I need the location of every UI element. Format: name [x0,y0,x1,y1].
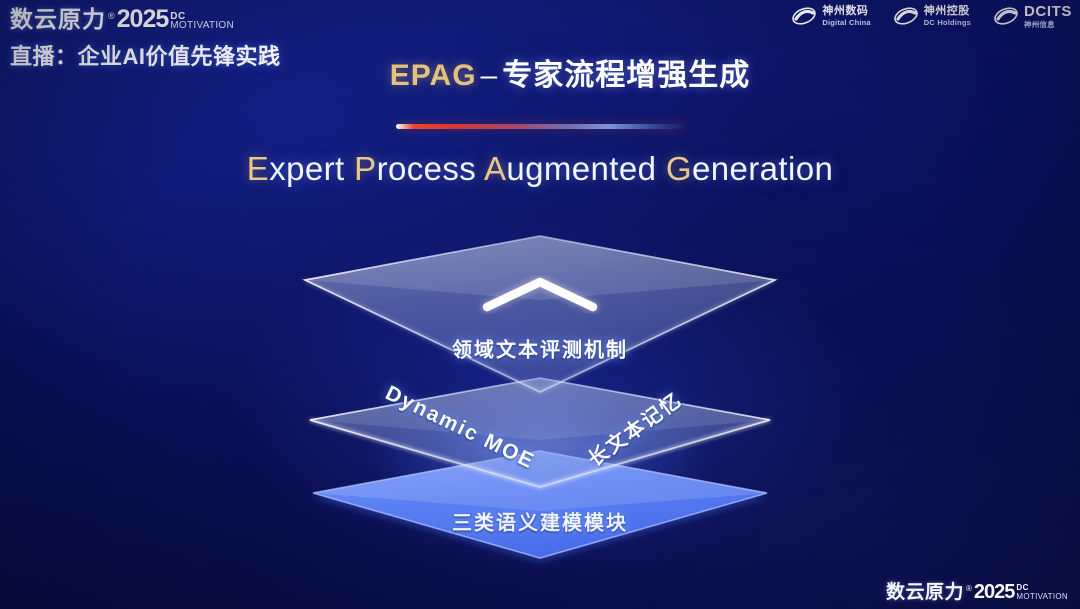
swirl-logo-icon [893,5,919,27]
partner-label: DCITS 神州信息 [1024,4,1072,29]
partner-logo-dc-holdings: 神州控股 DC Holdings [893,5,971,27]
partner-name-cn: DCITS [1024,4,1072,19]
partner-name-en: DC Holdings [924,19,971,27]
event-logo: 数云原力 ® 2025 DC MOTIVATION [6,2,326,32]
subtitle-rest-generation: eneration [692,150,833,187]
diagram-layer-top [305,236,775,392]
partner-name-cn: 神州数码 [822,6,870,17]
subtitle-cap-g: G [666,150,692,187]
partner-label: 神州控股 DC Holdings [924,6,971,27]
subtitle-rest-process: rocess [377,150,477,187]
diagram-layer-middle [310,378,770,487]
partner-name-en: 神州信息 [1024,21,1072,29]
layer-top-label: 领域文本评测机制 [452,334,628,363]
partner-logo-digital-china: 神州数码 Digital China [791,5,870,27]
subtitle-word-generation: Generation [666,150,833,187]
title-divider-rule [396,124,684,129]
event-logo-year: 2025 [117,6,169,32]
event-logo-dc-motivation: DC MOTIVATION [170,12,234,32]
subtitle-word-process: Process [354,150,476,187]
event-logo-cn: 数云原力 [10,6,106,32]
chevron-up-icon [487,282,593,307]
center-glow [375,390,705,520]
watermark-motivation: MOTIVATION [1016,592,1068,601]
subtitle-cap-e: E [247,150,269,187]
swirl-logo-icon [791,5,817,27]
title-chinese: 专家流程增强生成 [502,59,750,92]
watermark-dc-motivation: DC MOTIVATION [1016,583,1068,603]
subtitle-word-expert: Expert [247,150,345,187]
slide-canvas: 数云原力 ® 2025 DC MOTIVATION 直播：企业AI价值先锋实践 … [0,0,1080,609]
title-dash: – [477,59,503,92]
page-title: EPAG–专家流程增强生成 [0,50,1080,94]
title-acronym: EPAG [390,59,477,92]
layer-middle-label-left: Dynamic MOE [381,381,538,474]
watermark-dc: DC [1016,583,1068,592]
corner-watermark-logo: 数云原力 ® 2025 DC MOTIVATION [886,582,1068,603]
watermark-year: 2025 [974,582,1015,603]
watermark-cn: 数云原力 [886,582,964,603]
subtitle-expansion: Expert Process Augmented Generation [0,150,1080,188]
subtitle-rest-expert: xpert [269,150,344,187]
partner-name-cn: 神州控股 [924,6,971,17]
watermark-registered-mark-icon: ® [966,583,972,603]
partner-label: 神州数码 Digital China [822,6,870,27]
partner-logo-group: 神州数码 Digital China 神州控股 DC Holdings [791,4,1072,29]
subtitle-word-augmented: Augmented [484,150,656,187]
partner-name-en: Digital China [822,19,870,27]
subtitle-rest-augmented: ugmented [506,150,656,187]
partner-logo-dcits: DCITS 神州信息 [993,4,1072,29]
subtitle-cap-a: A [484,150,506,187]
layer-middle-label-right: 长文本记忆 [581,384,687,472]
layer-bottom-label: 三类语义建模模块 [452,507,628,536]
swirl-logo-icon [993,5,1019,27]
diagram-layer-bottom [312,451,768,562]
event-logo-motivation: MOTIVATION [170,21,234,30]
registered-mark-icon: ® [108,10,115,32]
subtitle-cap-p: P [354,150,376,187]
